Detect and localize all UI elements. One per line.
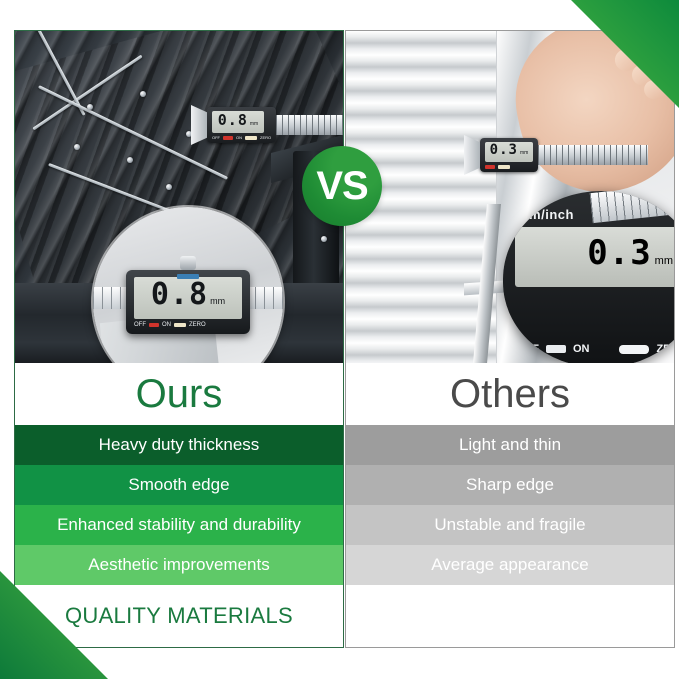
others-footer-row: [346, 585, 674, 647]
caliper-scale-bar: [276, 115, 343, 135]
vs-badge: VS: [302, 146, 382, 226]
caliper-on-label: ON: [573, 343, 590, 355]
caliper-off-label: OFF: [134, 322, 146, 328]
caliper-jaw-icon: [191, 105, 207, 145]
rivet: [166, 184, 172, 190]
caliper-display-magnified: 0.8 mm: [134, 277, 242, 319]
quality-materials-label: QUALITY MATERIALS: [65, 603, 293, 629]
others-feature-table: Others Light and thin Sharp edge Unstabl…: [346, 363, 674, 647]
comparison-stage: 0.8 mm OFF ON ZERO: [0, 0, 679, 679]
caliper-zero-label: ZERO: [189, 322, 206, 328]
caliper-buttons: OFF ON ZERO: [134, 322, 242, 328]
caliper-value: 0.3: [490, 142, 518, 158]
feature-label: Heavy duty thickness: [99, 435, 260, 455]
feature-row: Enhanced stability and durability: [15, 505, 343, 545]
caliper-on-label: ON: [236, 136, 242, 140]
caliper-thumbwheel-icon: [180, 256, 196, 270]
caliper-jaw-icon: [464, 135, 480, 175]
caliper-off-label: OFF: [517, 343, 539, 355]
caliper-value: 0.8: [218, 111, 248, 129]
magnified-measurement-circle: mm/inch 0.3 mm OFF ON ZERO: [503, 191, 674, 363]
caliper-body: 0.8 mm OFF ON ZERO: [207, 107, 276, 143]
others-heading-row: Others: [346, 363, 674, 425]
caliper-buttons: OFF ON ZERO: [517, 343, 674, 355]
caliper-value: 0.3: [587, 233, 651, 273]
caliper-mode-label: mm/inch: [517, 207, 574, 222]
zero-switch-icon: [498, 165, 510, 169]
feature-row: Sharp edge: [346, 465, 674, 505]
zero-switch-icon: [245, 136, 257, 140]
caliper-display: 0.8 mm: [212, 111, 264, 133]
feature-row: Average appearance: [346, 545, 674, 585]
feature-label: Smooth edge: [128, 475, 229, 495]
power-switch-icon: [546, 345, 566, 353]
caliper-unit: mm: [250, 121, 258, 127]
feature-label: Light and thin: [459, 435, 561, 455]
power-switch-icon: [149, 323, 159, 327]
caliper-buttons: [485, 165, 533, 169]
others-panel: 0.3 mm mm/inch 0.3 mm: [345, 30, 675, 648]
others-product-photo: 0.3 mm mm/inch 0.3 mm: [346, 31, 674, 363]
zero-switch-icon: [619, 345, 649, 354]
power-switch-icon: [485, 165, 495, 169]
caliper-buttons: OFF ON ZERO: [212, 136, 271, 140]
caliper-display: 0.3 mm: [485, 142, 533, 162]
caliper-accent-strip: [177, 274, 199, 279]
feature-row: Unstable and fragile: [346, 505, 674, 545]
feature-label: Aesthetic improvements: [88, 555, 269, 575]
ours-feature-table: Ours Heavy duty thickness Smooth edge En…: [15, 363, 343, 647]
caliper-top-left: 0.8 mm OFF ON ZERO: [191, 105, 343, 145]
caliper-on-label: ON: [162, 322, 171, 328]
page-title-others: Others: [450, 372, 570, 417]
rivet: [74, 144, 80, 150]
rivet: [321, 236, 327, 242]
caliper-scale-bar: [538, 145, 648, 165]
caliper-zero-label: ZERO: [260, 136, 271, 140]
feature-label: Sharp edge: [466, 475, 554, 495]
feature-row: Smooth edge: [15, 465, 343, 505]
power-switch-icon: [223, 136, 233, 140]
caliper-unit: mm: [520, 150, 528, 156]
caliper-body: 0.3 mm: [480, 138, 538, 172]
feature-label: Unstable and fragile: [434, 515, 585, 535]
caliper-body-magnified: 0.8 mm OFF ON ZERO: [126, 270, 250, 334]
caliper-scale-bar: [590, 191, 674, 223]
feature-row: Light and thin: [346, 425, 674, 465]
ours-heading-row: Ours: [15, 363, 343, 425]
feature-label: Enhanced stability and durability: [57, 515, 301, 535]
feature-label: Average appearance: [431, 555, 589, 575]
caliper-unit: mm: [210, 296, 225, 306]
caliper-display-magnified: 0.3 mm: [515, 227, 674, 287]
caliper-value: 0.8: [151, 277, 208, 312]
feature-row: Aesthetic improvements: [15, 545, 343, 585]
ours-product-photo: 0.8 mm OFF ON ZERO: [15, 31, 343, 363]
ours-panel: 0.8 mm OFF ON ZERO: [14, 30, 344, 648]
feature-row: Heavy duty thickness: [15, 425, 343, 465]
caliper-unit: mm: [655, 255, 673, 267]
caliper-top-right: 0.3 mm: [464, 135, 648, 175]
rivet: [140, 91, 146, 97]
vs-label: VS: [316, 166, 367, 206]
zero-switch-icon: [174, 323, 186, 327]
caliper-off-label: OFF: [212, 136, 220, 140]
rivet: [127, 157, 133, 163]
page-title-ours: Ours: [136, 372, 223, 417]
caliper-zero-label: ZERO: [656, 343, 674, 355]
